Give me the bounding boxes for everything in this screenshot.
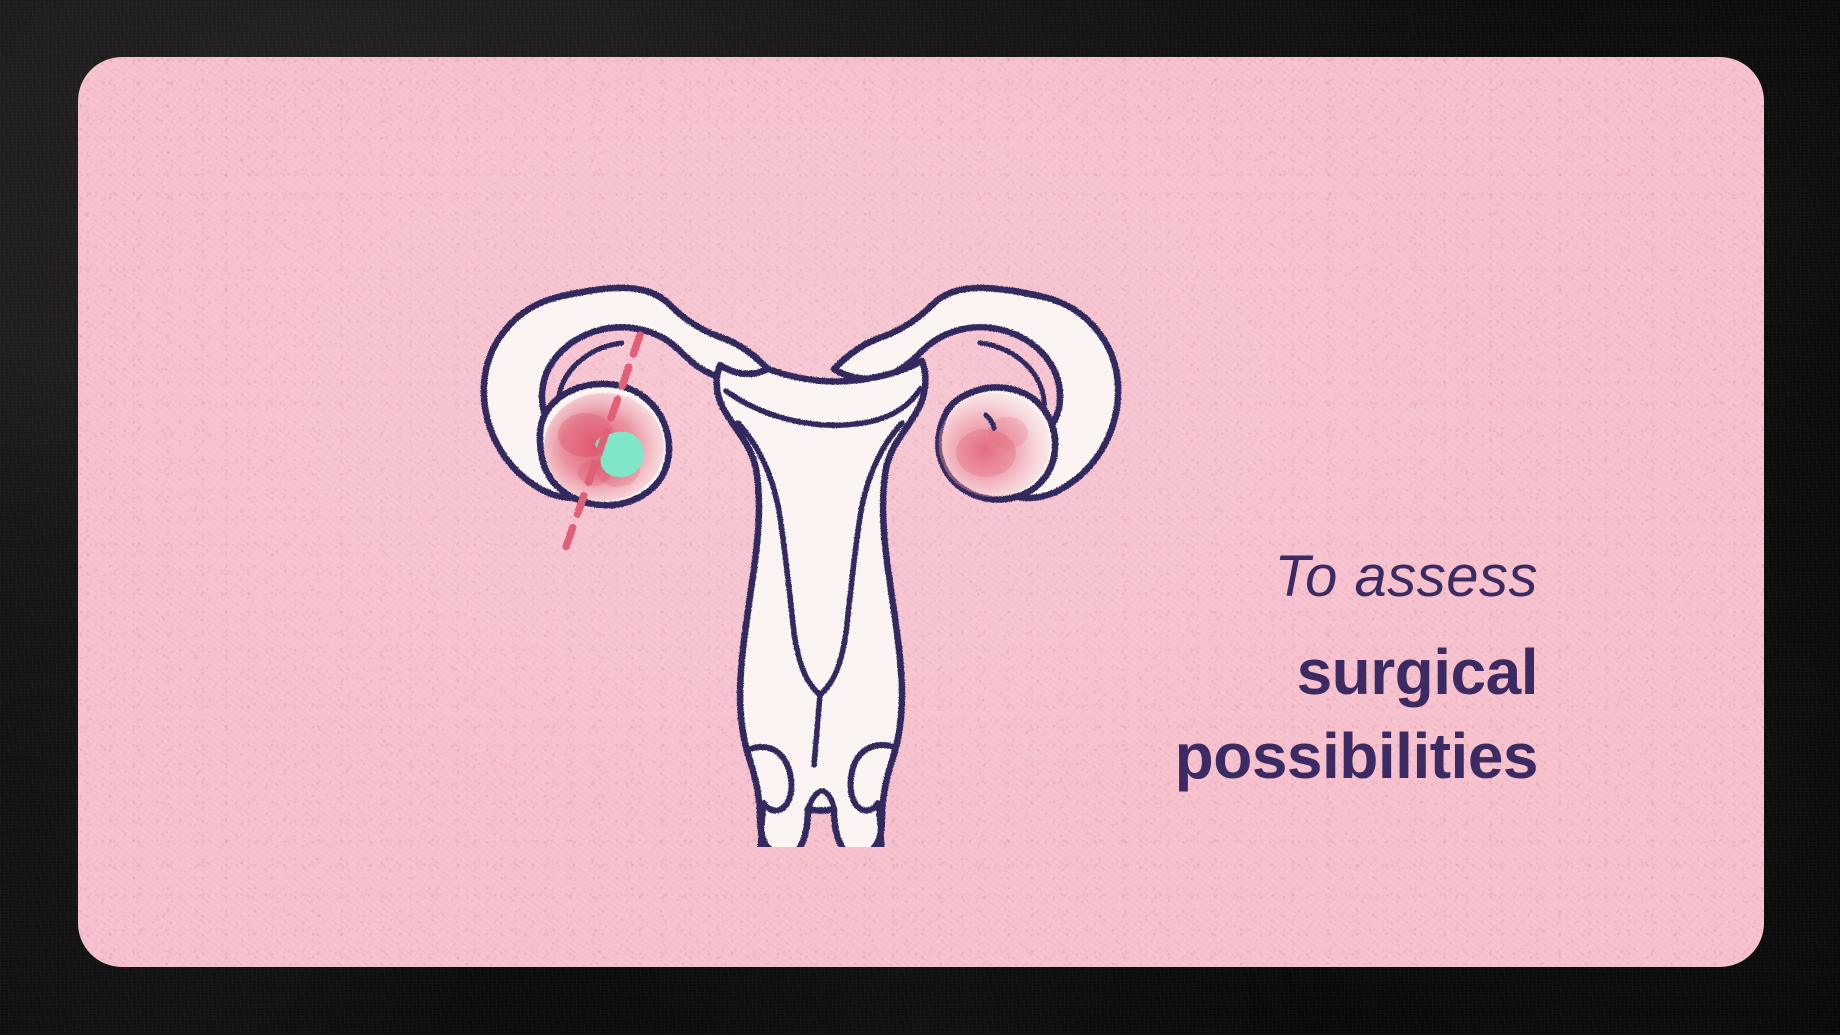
right-ovary xyxy=(938,387,1055,499)
caption-block: To assess surgical possibilities xyxy=(1118,547,1538,799)
pink-slide-card: To assess surgical possibilities xyxy=(78,57,1764,967)
right-ovary-lesion xyxy=(938,393,1050,497)
uterus-body xyxy=(717,361,926,847)
slide-stage: To assess surgical possibilities xyxy=(0,0,1840,1035)
caption-line-bold: surgical possibilities xyxy=(1118,630,1538,799)
caption-word-surgical: surgical xyxy=(1118,630,1538,714)
caption-line-italic: To assess xyxy=(1118,547,1538,608)
caption-word-possibilities: possibilities xyxy=(1118,714,1538,798)
anatomy-illustration xyxy=(408,147,1168,847)
